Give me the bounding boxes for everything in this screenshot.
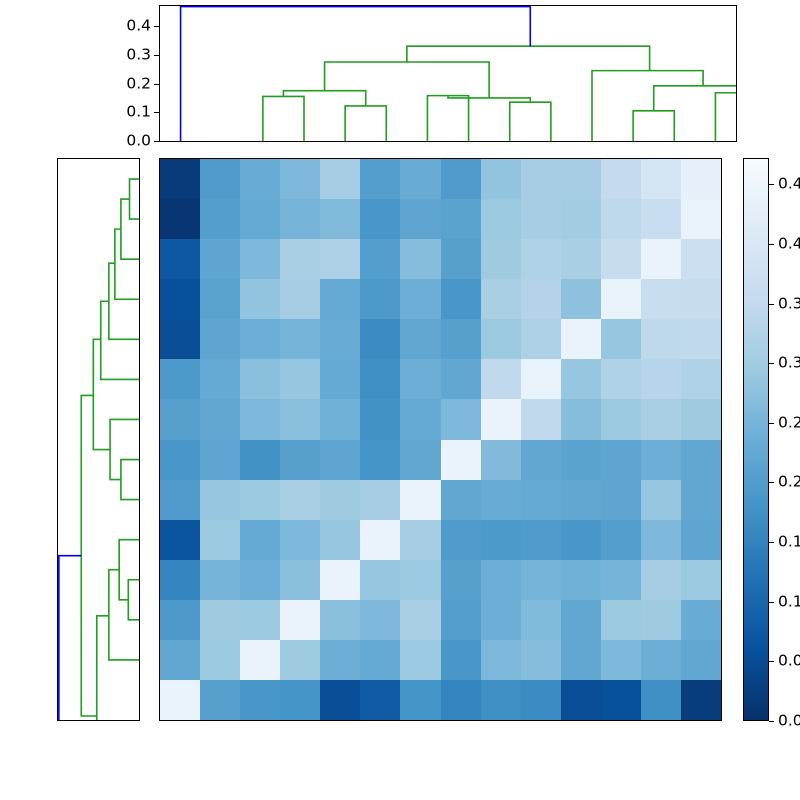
dendrogram-link bbox=[109, 570, 139, 660]
heatmap-cell[interactable] bbox=[521, 520, 561, 560]
heatmap-cell[interactable] bbox=[441, 359, 481, 399]
heatmap-cell[interactable] bbox=[320, 199, 360, 239]
dendrogram-link bbox=[93, 339, 110, 449]
colorbar-tick-label: 0.25 bbox=[778, 415, 800, 431]
heatmap-cell[interactable] bbox=[160, 680, 200, 720]
heatmap-cell[interactable] bbox=[601, 279, 641, 319]
heatmap-cell[interactable] bbox=[400, 359, 440, 399]
heatmap-cell[interactable] bbox=[641, 680, 681, 720]
heatmap-cell[interactable] bbox=[561, 440, 601, 480]
heatmap-cell[interactable] bbox=[601, 640, 641, 680]
heatmap-cell[interactable] bbox=[561, 359, 601, 399]
heatmap-cell[interactable] bbox=[400, 440, 440, 480]
heatmap-cell[interactable] bbox=[481, 199, 521, 239]
heatmap-cell[interactable] bbox=[681, 560, 721, 600]
heatmap-cell[interactable] bbox=[601, 440, 641, 480]
heatmap-cell[interactable] bbox=[160, 199, 200, 239]
heatmap-cell[interactable] bbox=[160, 399, 200, 439]
heatmap-cell[interactable] bbox=[521, 239, 561, 279]
heatmap-cell[interactable] bbox=[481, 680, 521, 720]
heatmap-cell[interactable] bbox=[561, 199, 601, 239]
heatmap-cell[interactable] bbox=[400, 680, 440, 720]
heatmap-cell[interactable] bbox=[681, 279, 721, 319]
heatmap-cell[interactable] bbox=[280, 680, 320, 720]
heatmap-cell[interactable] bbox=[641, 520, 681, 560]
heatmap-cell[interactable] bbox=[561, 480, 601, 520]
colorbar-tick-label: 0.30 bbox=[778, 355, 800, 371]
dendrogram-link bbox=[263, 96, 304, 141]
heatmap-cell[interactable] bbox=[400, 199, 440, 239]
heatmap-cell[interactable] bbox=[240, 319, 280, 359]
heatmap-cell[interactable] bbox=[400, 239, 440, 279]
colorbar-tick-mark bbox=[769, 184, 774, 185]
dendrogram-link bbox=[121, 460, 139, 500]
heatmap-cell[interactable] bbox=[160, 560, 200, 600]
heatmap-cell[interactable] bbox=[280, 440, 320, 480]
heatmap-cell[interactable] bbox=[481, 399, 521, 439]
heatmap-cell[interactable] bbox=[641, 159, 681, 199]
colorbar-tick-mark bbox=[769, 304, 774, 305]
heatmap-cell[interactable] bbox=[641, 279, 681, 319]
dendrogram-link bbox=[283, 91, 365, 106]
heatmap-cell[interactable] bbox=[521, 640, 561, 680]
heatmap-cell[interactable] bbox=[200, 399, 240, 439]
heatmap-cell[interactable] bbox=[320, 359, 360, 399]
heatmap-cell[interactable] bbox=[601, 199, 641, 239]
heatmap-cell[interactable] bbox=[641, 319, 681, 359]
heatmap-cell[interactable] bbox=[601, 600, 641, 640]
colorbar-tick-label: 0.40 bbox=[778, 236, 800, 252]
heatmap-cell[interactable] bbox=[200, 560, 240, 600]
heatmap-cell[interactable] bbox=[481, 279, 521, 319]
heatmap-cell[interactable] bbox=[240, 440, 280, 480]
heatmap-cell[interactable] bbox=[400, 560, 440, 600]
heatmap-cell[interactable] bbox=[200, 600, 240, 640]
dendrogram-link bbox=[115, 229, 139, 299]
colorbar-tick-label: 0.35 bbox=[778, 296, 800, 312]
heatmap-cell[interactable] bbox=[521, 279, 561, 319]
heatmap-cell[interactable] bbox=[160, 440, 200, 480]
heatmap-cell[interactable] bbox=[280, 159, 320, 199]
heatmap-cell[interactable] bbox=[441, 440, 481, 480]
heatmap-cell[interactable] bbox=[240, 159, 280, 199]
colorbar-tick-label: 0.20 bbox=[778, 475, 800, 491]
heatmap-cell[interactable] bbox=[601, 239, 641, 279]
colorbar-tick-mark bbox=[769, 482, 774, 483]
heatmap-cell[interactable] bbox=[681, 159, 721, 199]
heatmap-cell[interactable] bbox=[160, 520, 200, 560]
heatmap-cell[interactable] bbox=[561, 399, 601, 439]
heatmap-cell[interactable] bbox=[601, 520, 641, 560]
heatmap-cell[interactable] bbox=[481, 520, 521, 560]
heatmap-cell[interactable] bbox=[641, 640, 681, 680]
heatmap-cell[interactable] bbox=[441, 520, 481, 560]
heatmap-cell[interactable] bbox=[641, 440, 681, 480]
dendrogram-link bbox=[325, 62, 490, 98]
column-dendrogram-tick-label: 0.4 bbox=[126, 18, 151, 34]
heatmap-cell[interactable] bbox=[441, 319, 481, 359]
heatmap-cell[interactable] bbox=[561, 279, 601, 319]
colorbar bbox=[743, 158, 769, 721]
heatmap-cell[interactable] bbox=[441, 560, 481, 600]
column-dendrogram-tick-label: 0.2 bbox=[126, 76, 151, 92]
dendrogram-link bbox=[81, 395, 97, 716]
colorbar-tick-mark bbox=[769, 542, 774, 543]
heatmap-cell[interactable] bbox=[481, 440, 521, 480]
heatmap-cell[interactable] bbox=[521, 359, 561, 399]
heatmap-cell[interactable] bbox=[360, 440, 400, 480]
heatmap-cell[interactable] bbox=[240, 600, 280, 640]
dendrogram-link bbox=[128, 580, 139, 620]
heatmap-cell[interactable] bbox=[200, 279, 240, 319]
heatmap-cell[interactable] bbox=[641, 359, 681, 399]
heatmap-cell[interactable] bbox=[160, 159, 200, 199]
heatmap-cell[interactable] bbox=[441, 600, 481, 640]
heatmap-cell[interactable] bbox=[200, 440, 240, 480]
heatmap-cell[interactable] bbox=[280, 199, 320, 239]
heatmap-cell[interactable] bbox=[160, 239, 200, 279]
heatmap-cell[interactable] bbox=[320, 279, 360, 319]
heatmap-cell[interactable] bbox=[360, 680, 400, 720]
heatmap-cell[interactable] bbox=[481, 560, 521, 600]
heatmap-cell[interactable] bbox=[441, 239, 481, 279]
heatmap-cell[interactable] bbox=[280, 600, 320, 640]
heatmap-cell[interactable] bbox=[320, 159, 360, 199]
heatmap-cell[interactable] bbox=[360, 520, 400, 560]
colorbar-tick-mark bbox=[769, 602, 774, 603]
heatmap-cell[interactable] bbox=[320, 440, 360, 480]
colorbar-tick-label: 0.45 bbox=[778, 176, 800, 192]
heatmap-cell[interactable] bbox=[521, 199, 561, 239]
heatmap-cell[interactable] bbox=[561, 640, 601, 680]
colorbar-tick-label: 0.10 bbox=[778, 594, 800, 610]
heatmap-cell[interactable] bbox=[400, 480, 440, 520]
heatmap-cell[interactable] bbox=[320, 600, 360, 640]
colorbar-tick-label: 0.15 bbox=[778, 534, 800, 550]
heatmap-cell[interactable] bbox=[200, 159, 240, 199]
heatmap-cell[interactable] bbox=[320, 680, 360, 720]
heatmap-cell[interactable] bbox=[280, 480, 320, 520]
heatmap-cell[interactable] bbox=[240, 239, 280, 279]
heatmap-cell[interactable] bbox=[441, 480, 481, 520]
heatmap-cell[interactable] bbox=[280, 319, 320, 359]
heatmap-cell[interactable] bbox=[360, 199, 400, 239]
heatmap-cell[interactable] bbox=[280, 560, 320, 600]
heatmap-cell[interactable] bbox=[360, 480, 400, 520]
heatmap-cell[interactable] bbox=[521, 440, 561, 480]
column-dendrogram-tick-label: 0.0 bbox=[126, 133, 151, 149]
heatmap-cell[interactable] bbox=[521, 600, 561, 640]
dendrogram-link bbox=[101, 301, 139, 379]
heatmap-cell[interactable] bbox=[400, 319, 440, 359]
heatmap-cell[interactable] bbox=[481, 480, 521, 520]
heatmap-cell[interactable] bbox=[280, 279, 320, 319]
heatmap-cell[interactable] bbox=[320, 640, 360, 680]
heatmap-cell[interactable] bbox=[681, 480, 721, 520]
dendrogram-link bbox=[654, 86, 736, 111]
heatmap-cell[interactable] bbox=[280, 520, 320, 560]
colorbar-tick-mark bbox=[769, 661, 774, 662]
heatmap-cell[interactable] bbox=[280, 640, 320, 680]
heatmap-cell[interactable] bbox=[681, 359, 721, 399]
heatmap-cell[interactable] bbox=[521, 560, 561, 600]
heatmap-cell[interactable] bbox=[280, 359, 320, 399]
heatmap-cell[interactable] bbox=[360, 159, 400, 199]
heatmap-cell[interactable] bbox=[561, 239, 601, 279]
dendrogram-root-link bbox=[59, 556, 139, 720]
heatmap-cell[interactable] bbox=[200, 640, 240, 680]
heatmap-cell[interactable] bbox=[481, 319, 521, 359]
heatmap-cell[interactable] bbox=[320, 319, 360, 359]
heatmap-cell[interactable] bbox=[521, 399, 561, 439]
dendrogram-link bbox=[592, 71, 703, 141]
colorbar-tick-mark bbox=[769, 244, 774, 245]
dendrogram-link bbox=[715, 93, 736, 141]
heatmap-cell[interactable] bbox=[360, 359, 400, 399]
heatmap-cell[interactable] bbox=[240, 359, 280, 399]
heatmap-cell[interactable] bbox=[481, 159, 521, 199]
dendrogram-link bbox=[109, 263, 139, 339]
heatmap-cell[interactable] bbox=[441, 640, 481, 680]
heatmap-cell[interactable] bbox=[200, 359, 240, 399]
dendrogram-link bbox=[345, 106, 386, 141]
heatmap-cell[interactable] bbox=[681, 239, 721, 279]
heatmap-cell[interactable] bbox=[641, 600, 681, 640]
heatmap-cell[interactable] bbox=[441, 159, 481, 199]
heatmap-cell[interactable] bbox=[400, 600, 440, 640]
heatmap-cell[interactable] bbox=[641, 560, 681, 600]
heatmap-cell[interactable] bbox=[160, 480, 200, 520]
heatmap-cell[interactable] bbox=[561, 560, 601, 600]
heatmap-cell[interactable] bbox=[481, 600, 521, 640]
heatmap-cell[interactable] bbox=[240, 680, 280, 720]
heatmap-cell[interactable] bbox=[200, 480, 240, 520]
heatmap-cell[interactable] bbox=[601, 680, 641, 720]
heatmap-cell[interactable] bbox=[641, 399, 681, 439]
heatmap-cell[interactable] bbox=[240, 480, 280, 520]
heatmap-cell[interactable] bbox=[360, 279, 400, 319]
heatmap-cell[interactable] bbox=[681, 199, 721, 239]
heatmap-cell[interactable] bbox=[641, 239, 681, 279]
heatmap-cell[interactable] bbox=[681, 640, 721, 680]
dendrogram-link bbox=[130, 179, 139, 219]
heatmap-cell[interactable] bbox=[400, 399, 440, 439]
heatmap-cell[interactable] bbox=[360, 600, 400, 640]
row-dendrogram bbox=[57, 158, 140, 721]
heatmap-cell[interactable] bbox=[280, 239, 320, 279]
heatmap-cell[interactable] bbox=[320, 560, 360, 600]
heatmap-cell[interactable] bbox=[360, 239, 400, 279]
colorbar-tick-label: 0.05 bbox=[778, 654, 800, 670]
column-dendrogram-axis: 0.00.10.20.30.4 bbox=[95, 5, 159, 142]
heatmap-cell[interactable] bbox=[441, 680, 481, 720]
heatmap-cell[interactable] bbox=[521, 319, 561, 359]
heatmap-cell[interactable] bbox=[400, 279, 440, 319]
column-dendrogram-tick-label: 0.3 bbox=[126, 47, 151, 63]
heatmap-cell[interactable] bbox=[681, 319, 721, 359]
heatmap-cell[interactable] bbox=[561, 520, 601, 560]
heatmap-cell[interactable] bbox=[200, 199, 240, 239]
heatmap-cell[interactable] bbox=[400, 159, 440, 199]
heatmap-cell[interactable] bbox=[200, 319, 240, 359]
heatmap-cell[interactable] bbox=[441, 399, 481, 439]
dendrogram-link bbox=[510, 102, 551, 141]
heatmap-cell[interactable] bbox=[521, 480, 561, 520]
heatmap-cell[interactable] bbox=[681, 399, 721, 439]
heatmap-cell[interactable] bbox=[681, 600, 721, 640]
heatmap-cell[interactable] bbox=[441, 279, 481, 319]
heatmap-cell[interactable] bbox=[200, 680, 240, 720]
heatmap-cell[interactable] bbox=[320, 399, 360, 439]
row-dendrogram-svg bbox=[58, 159, 139, 720]
heatmap-cell[interactable] bbox=[320, 480, 360, 520]
heatmap-cell[interactable] bbox=[601, 359, 641, 399]
heatmap-cell[interactable] bbox=[280, 399, 320, 439]
heatmap-cell[interactable] bbox=[160, 359, 200, 399]
heatmap-cell[interactable] bbox=[481, 239, 521, 279]
heatmap-cell[interactable] bbox=[441, 199, 481, 239]
heatmap-cell[interactable] bbox=[160, 600, 200, 640]
colorbar-gradient bbox=[744, 159, 768, 720]
heatmap-cell[interactable] bbox=[561, 319, 601, 359]
column-dendrogram-svg bbox=[160, 6, 736, 141]
heatmap-cell[interactable] bbox=[521, 680, 561, 720]
heatmap-cell[interactable] bbox=[601, 480, 641, 520]
heatmap-cell[interactable] bbox=[400, 520, 440, 560]
column-dendrogram bbox=[159, 5, 737, 142]
heatmap-cell[interactable] bbox=[561, 159, 601, 199]
heatmap-cell[interactable] bbox=[360, 399, 400, 439]
heatmap-cell[interactable] bbox=[641, 480, 681, 520]
colorbar-tick-mark bbox=[769, 363, 774, 364]
heatmap-cell[interactable] bbox=[561, 680, 601, 720]
heatmap-cell[interactable] bbox=[240, 640, 280, 680]
heatmap-cell[interactable] bbox=[200, 520, 240, 560]
heatmap-cell[interactable] bbox=[360, 560, 400, 600]
heatmap-cell[interactable] bbox=[320, 520, 360, 560]
heatmap-cell[interactable] bbox=[681, 440, 721, 480]
heatmap-cell[interactable] bbox=[681, 520, 721, 560]
heatmap-cell[interactable] bbox=[681, 680, 721, 720]
heatmap-cell[interactable] bbox=[601, 560, 641, 600]
heatmap-grid[interactable] bbox=[159, 158, 722, 721]
heatmap-cell[interactable] bbox=[200, 239, 240, 279]
heatmap-cell[interactable] bbox=[601, 159, 641, 199]
heatmap-cell[interactable] bbox=[240, 560, 280, 600]
heatmap-cell[interactable] bbox=[601, 319, 641, 359]
dendrogram-root-link bbox=[181, 7, 531, 141]
dendrogram-link bbox=[427, 96, 468, 141]
column-dendrogram-tick-label: 0.1 bbox=[126, 105, 151, 121]
heatmap-cell[interactable] bbox=[160, 279, 200, 319]
heatmap-cell[interactable] bbox=[320, 239, 360, 279]
heatmap-cell[interactable] bbox=[240, 279, 280, 319]
heatmap-cell[interactable] bbox=[481, 640, 521, 680]
colorbar-tick-mark bbox=[769, 423, 774, 424]
colorbar-tick-label: 0.00 bbox=[778, 713, 800, 729]
heatmap-cell[interactable] bbox=[240, 199, 280, 239]
dendrogram-link bbox=[407, 46, 650, 70]
heatmap-cell[interactable] bbox=[160, 319, 200, 359]
dendrogram-link bbox=[633, 111, 674, 141]
heatmap-cell[interactable] bbox=[160, 640, 200, 680]
dendrogram-link bbox=[97, 616, 109, 720]
heatmap-cell[interactable] bbox=[360, 640, 400, 680]
colorbar-axis: 0.000.050.100.150.200.250.300.350.400.45 bbox=[769, 158, 800, 721]
heatmap-cell[interactable] bbox=[601, 399, 641, 439]
heatmap-cell[interactable] bbox=[521, 159, 561, 199]
heatmap-cell[interactable] bbox=[400, 640, 440, 680]
heatmap-cell[interactable] bbox=[240, 399, 280, 439]
heatmap-cell[interactable] bbox=[641, 199, 681, 239]
heatmap-cell[interactable] bbox=[561, 600, 601, 640]
heatmap-cell[interactable] bbox=[481, 359, 521, 399]
heatmap-cell[interactable] bbox=[360, 319, 400, 359]
dendrogram-link bbox=[110, 419, 139, 479]
colorbar-tick-mark bbox=[769, 721, 774, 722]
heatmap-cell[interactable] bbox=[240, 520, 280, 560]
